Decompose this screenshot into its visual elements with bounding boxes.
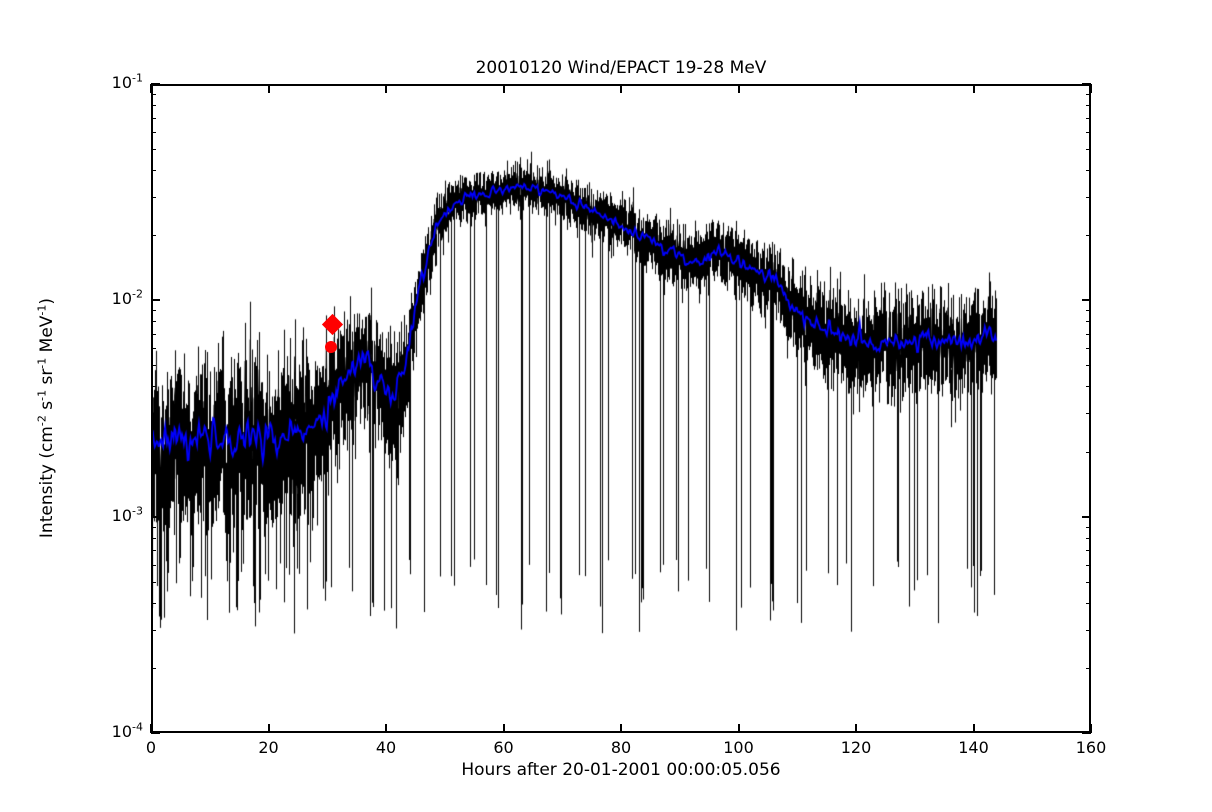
- x-tick-major-top: [385, 84, 387, 93]
- y-tick-minor: [1086, 197, 1091, 198]
- y-tick-minor: [151, 149, 156, 150]
- y-tick-minor: [151, 170, 156, 171]
- x-tick-label: 120: [826, 739, 886, 757]
- x-tick-label: 140: [944, 739, 1004, 757]
- x-tick-label: 20: [239, 739, 299, 757]
- y-tick-minor: [151, 365, 156, 366]
- x-tick-major: [385, 724, 387, 733]
- y-tick-minor: [151, 310, 156, 311]
- x-tick-major: [973, 724, 975, 733]
- y-tick-label: 10-4: [112, 725, 143, 739]
- x-tick-major-top: [1090, 84, 1092, 93]
- y-axis-tick-labels: 10-410-310-210-1: [95, 0, 143, 812]
- y-tick-minor: [151, 235, 156, 236]
- y-tick-minor: [1086, 321, 1091, 322]
- x-tick-major-top: [150, 84, 152, 93]
- y-tick-minor: [151, 132, 156, 133]
- x-axis-label: Hours after 20-01-2001 00:00:05.056: [151, 760, 1091, 780]
- y-tick-minor: [151, 565, 156, 566]
- y-tick-major: [151, 299, 160, 301]
- y-tick-minor: [1086, 668, 1091, 669]
- y-tick-minor: [1086, 386, 1091, 387]
- figure-canvas: 20010120 Wind/EPACT 19-28 MeV 10-410-310…: [0, 0, 1212, 812]
- y-tick-major: [151, 732, 160, 734]
- y-tick-minor: [1086, 94, 1091, 95]
- x-tick-major: [150, 724, 152, 733]
- x-tick-label: 80: [591, 739, 651, 757]
- y-tick-minor: [151, 538, 156, 539]
- x-tick-label: 160: [1061, 739, 1121, 757]
- y-tick-minor: [151, 386, 156, 387]
- y-tick-minor: [1086, 149, 1091, 150]
- y-tick-minor: [151, 452, 156, 453]
- x-tick-label: 100: [709, 739, 769, 757]
- y-tick-minor: [1086, 118, 1091, 119]
- x-tick-major-top: [503, 84, 505, 93]
- x-tick-major: [855, 724, 857, 733]
- y-tick-minor: [1086, 413, 1091, 414]
- y-tick-minor: [1086, 348, 1091, 349]
- y-tick-minor: [1086, 527, 1091, 528]
- x-tick-major-top: [973, 84, 975, 93]
- y-tick-label: 10-3: [112, 509, 143, 523]
- y-tick-label: 10-1: [112, 76, 143, 90]
- y-tick-major: [1082, 299, 1091, 301]
- y-tick-minor: [1086, 452, 1091, 453]
- y-tick-minor: [1086, 365, 1091, 366]
- y-tick-minor: [1086, 170, 1091, 171]
- y-tick-minor: [151, 105, 156, 106]
- x-tick-major-top: [855, 84, 857, 93]
- y-tick-minor: [1086, 310, 1091, 311]
- y-tick-minor: [1086, 235, 1091, 236]
- x-tick-major-top: [738, 84, 740, 93]
- y-tick-major: [1082, 516, 1091, 518]
- y-tick-minor: [1086, 630, 1091, 631]
- x-tick-major: [268, 724, 270, 733]
- x-tick-major: [620, 724, 622, 733]
- x-tick-label: 60: [474, 739, 534, 757]
- y-tick-minor: [1086, 538, 1091, 539]
- y-tick-minor: [1086, 603, 1091, 604]
- y-tick-minor: [151, 348, 156, 349]
- y-tick-minor: [1086, 334, 1091, 335]
- y-tick-minor: [151, 94, 156, 95]
- y-tick-minor: [151, 668, 156, 669]
- y-tick-minor: [151, 321, 156, 322]
- x-tick-major: [503, 724, 505, 733]
- x-tick-label: 40: [356, 739, 416, 757]
- x-tick-major-top: [268, 84, 270, 93]
- y-tick-label: 10-2: [112, 292, 143, 306]
- y-tick-minor: [151, 413, 156, 414]
- y-tick-major: [151, 516, 160, 518]
- y-tick-major: [151, 83, 160, 85]
- plot-title: 20010120 Wind/EPACT 19-28 MeV: [151, 58, 1091, 78]
- x-tick-major: [1090, 724, 1092, 733]
- y-tick-minor: [1086, 582, 1091, 583]
- y-tick-minor: [151, 603, 156, 604]
- x-tick-label: 0: [121, 739, 181, 757]
- y-tick-minor: [1086, 105, 1091, 106]
- y-tick-minor: [151, 630, 156, 631]
- axes-frame: [151, 84, 1091, 733]
- x-tick-major-top: [620, 84, 622, 93]
- y-axis-label: Intensity (cm-2 s-1 sr-1 MeV-1): [37, 138, 57, 698]
- y-tick-minor: [1086, 132, 1091, 133]
- y-tick-minor: [151, 197, 156, 198]
- y-tick-minor: [151, 334, 156, 335]
- x-tick-major: [738, 724, 740, 733]
- y-tick-minor: [151, 527, 156, 528]
- y-tick-minor: [1086, 550, 1091, 551]
- y-tick-minor: [151, 550, 156, 551]
- y-tick-minor: [1086, 565, 1091, 566]
- y-tick-minor: [151, 582, 156, 583]
- y-tick-minor: [151, 118, 156, 119]
